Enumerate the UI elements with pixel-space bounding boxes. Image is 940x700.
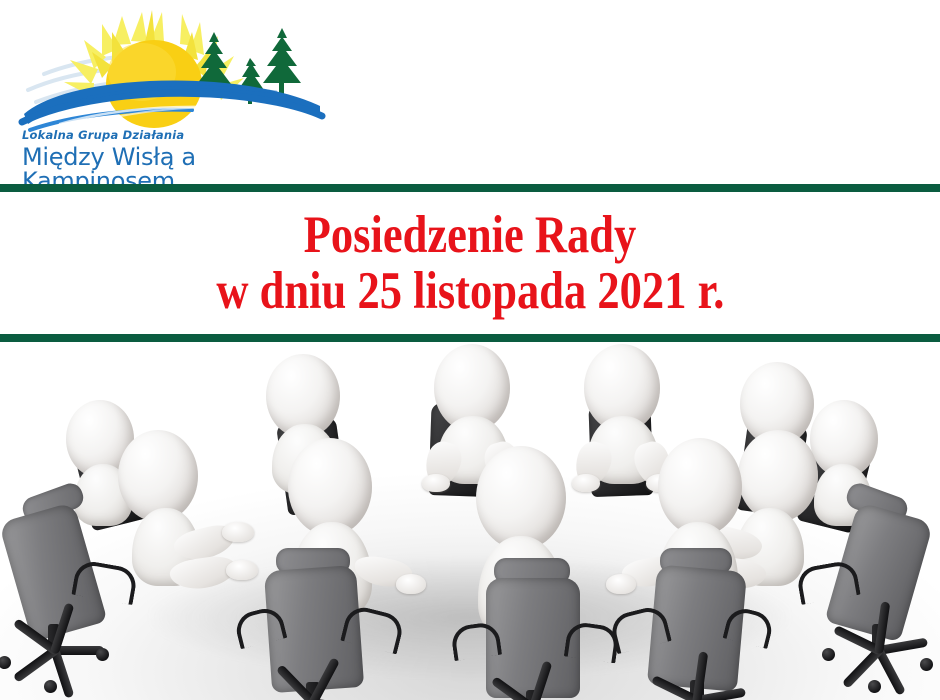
poster-canvas: Lokalna Grupa Działania Między Wisłą a K… xyxy=(0,0,940,700)
chair-caster xyxy=(868,680,881,693)
divider-rule-bottom xyxy=(0,334,940,342)
figure-hand xyxy=(226,560,258,580)
chair-caster xyxy=(0,656,11,669)
chair-caster xyxy=(822,648,835,661)
title-band: Posiedzenie Rady w dniu 25 listopada 202… xyxy=(0,192,940,334)
chair-caster xyxy=(44,680,57,693)
page-title: Posiedzenie Rady xyxy=(304,208,637,262)
divider-rule-top xyxy=(0,184,940,192)
chair-caster xyxy=(96,648,109,661)
figure-hand xyxy=(606,574,636,594)
chair-caster xyxy=(920,658,933,671)
page-subtitle-date: w dniu 25 listopada 2021 r. xyxy=(216,264,724,318)
organization-logo: Lokalna Grupa Działania Między Wisłą a K… xyxy=(14,6,326,174)
figure-head xyxy=(476,446,566,550)
figure-hand xyxy=(422,474,450,492)
poster-header: Lokalna Grupa Działania Między Wisłą a K… xyxy=(0,0,940,184)
meeting-illustration xyxy=(0,342,940,700)
figure-seated xyxy=(118,430,248,610)
chair-base xyxy=(642,692,752,700)
figure-hand xyxy=(396,574,426,594)
illustration-stage xyxy=(0,342,940,700)
figure-hand xyxy=(222,522,254,542)
logo-tagline: Lokalna Grupa Działania xyxy=(22,130,322,144)
logo-artwork xyxy=(14,6,326,136)
chair-base xyxy=(258,694,368,700)
chair-base xyxy=(824,642,934,676)
chair-base xyxy=(0,642,110,676)
